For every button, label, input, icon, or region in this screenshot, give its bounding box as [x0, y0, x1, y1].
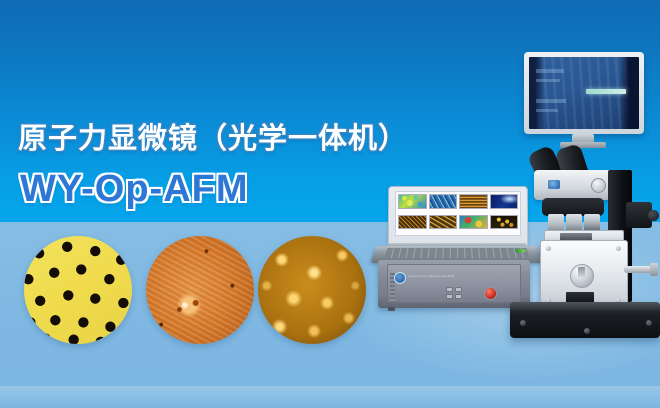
- controller-label: Atomic Force Microscope AFM: [408, 274, 454, 278]
- scan-image: [428, 215, 457, 230]
- controller-button[interactable]: [455, 294, 462, 299]
- controller-button[interactable]: [446, 287, 453, 292]
- scan-caption: [428, 229, 457, 233]
- promo-banner: 原子力显微镜（光学一体机） WY-Op-AFM: [0, 0, 660, 408]
- scan-caption: [429, 209, 457, 213]
- scan-thumbnail: [459, 194, 487, 212]
- afm-optical-microscope: [498, 52, 660, 342]
- optical-feature: [536, 69, 565, 73]
- base-screw: [646, 320, 652, 326]
- afm-sample-dot-array: [24, 236, 132, 344]
- scan-image: [398, 215, 427, 230]
- optical-feature: [536, 109, 558, 113]
- controller-foot: [388, 307, 395, 311]
- monitor-screen: [529, 57, 639, 129]
- scan-thumbnail: [398, 194, 427, 212]
- scan-image: [398, 194, 427, 208]
- brand-logo-icon: [548, 180, 560, 189]
- cantilever-probe: [586, 89, 626, 94]
- optical-feature: [536, 79, 560, 83]
- panel-screw: [616, 246, 621, 251]
- base-screw: [584, 328, 590, 334]
- focus-knob[interactable]: [648, 210, 659, 221]
- microscope-head: [534, 170, 612, 200]
- scan-caption: [459, 229, 488, 233]
- scan-image: [459, 215, 488, 230]
- scan-caption: [398, 209, 427, 213]
- power-knob[interactable]: [484, 287, 497, 300]
- scan-thumbnail: [398, 215, 427, 234]
- brand-logo-icon: [394, 272, 406, 284]
- scan-thumbnail: [428, 215, 457, 234]
- head-adjust-knob[interactable]: [591, 178, 606, 193]
- scan-caption: [398, 229, 427, 233]
- scanner-rod-tip: [650, 263, 658, 276]
- scan-thumbnail: [429, 194, 457, 212]
- base-top-surface: [510, 302, 660, 310]
- scan-image: [459, 194, 487, 208]
- controller-button[interactable]: [455, 287, 462, 292]
- product-model: WY-Op-AFM: [20, 167, 249, 211]
- optical-feature: [536, 99, 567, 103]
- afm-sample-granular: [258, 236, 366, 344]
- scanner-adjust-dial[interactable]: [570, 264, 594, 288]
- scan-caption: [459, 209, 487, 213]
- afm-sample-topography: [146, 236, 254, 344]
- controller-button[interactable]: [446, 294, 453, 299]
- page-title: 原子力显微镜（光学一体机）: [18, 122, 408, 156]
- controller-buttons: [446, 287, 462, 299]
- panel-screw: [546, 246, 551, 251]
- scan-thumbnail: [459, 215, 488, 234]
- microscope-monitor: [524, 52, 644, 134]
- base-screw: [520, 320, 526, 326]
- scan-image: [429, 194, 457, 208]
